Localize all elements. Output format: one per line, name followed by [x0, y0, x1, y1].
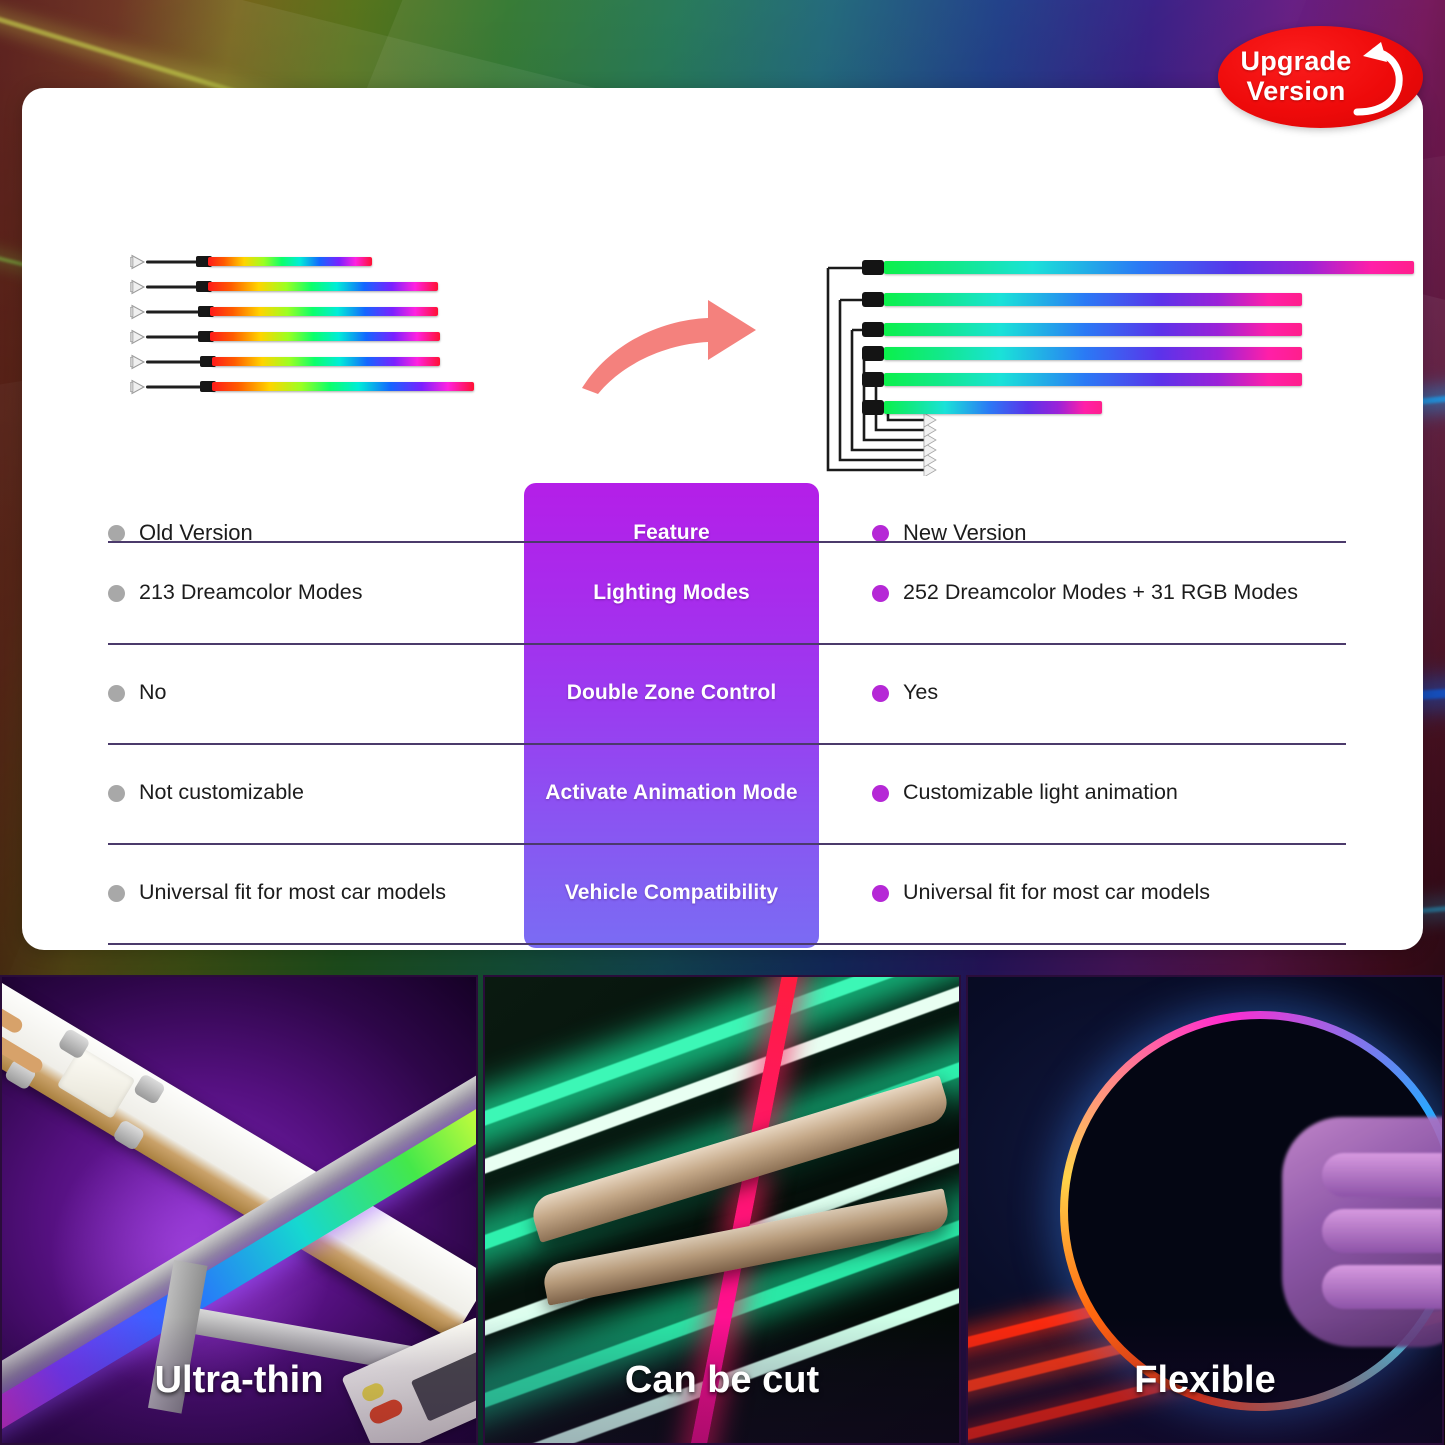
bullet-dot-new-icon: [872, 585, 889, 602]
old-version-strips: [130, 256, 510, 406]
feature-photo-row: Ultra-thin Can be cut Flexible: [0, 975, 1445, 1445]
row-new-value: Universal fit for most car models: [903, 880, 1210, 906]
row-cell-feature: Activate Animation Mode: [524, 743, 819, 843]
table-row: 213 Dreamcolor Modes Lighting Modes 252 …: [84, 543, 1364, 643]
old-strip-row: [130, 256, 372, 267]
strip-wire: [146, 385, 204, 388]
row-cell-new: 252 Dreamcolor Modes + 31 RGB Modes: [872, 543, 1342, 643]
finger: [1322, 1265, 1442, 1309]
comparison-table: Old Version Feature New Version 213 Drea…: [84, 483, 1364, 953]
row-old-value: Not customizable: [139, 780, 304, 806]
old-strip-row: [130, 381, 478, 392]
connector-plug-icon: [130, 379, 147, 394]
old-strip-row: [130, 306, 442, 317]
bullet-dot-old-icon: [108, 525, 125, 542]
led-strip: [884, 347, 1302, 360]
finger: [1322, 1153, 1442, 1197]
connector-plug-icon: [130, 304, 147, 319]
strip-wire: [146, 360, 204, 363]
photo-ultra-thin: Ultra-thin: [0, 975, 478, 1445]
connector-plug-icon: [130, 354, 147, 369]
led-strip: [884, 401, 1102, 414]
connector-plug-icon: [130, 329, 147, 344]
photo-can-be-cut: Can be cut: [483, 975, 961, 1445]
strip-endcap: [862, 260, 884, 275]
row-cell-feature: Vehicle Compatibility: [524, 843, 819, 943]
led-strip: [212, 382, 474, 391]
strip-wire: [146, 335, 202, 338]
strip-endcap: [862, 400, 884, 415]
row-cell-feature: Lighting Modes: [524, 543, 819, 643]
bullet-dot-new-icon: [872, 885, 889, 902]
curved-up-arrow-icon: [1341, 42, 1411, 116]
strip-endcap: [862, 346, 884, 361]
bullet-dot-new-icon: [872, 785, 889, 802]
strip-wire: [146, 260, 200, 263]
wiring-harness: [814, 246, 1414, 476]
table-row: Not customizable Activate Animation Mode…: [84, 743, 1364, 843]
new-strip-row: [862, 372, 1302, 387]
bullet-dot-old-icon: [108, 585, 125, 602]
old-strip-row: [130, 331, 444, 342]
row-cell-new: Customizable light animation: [872, 743, 1342, 843]
row-divider: [108, 943, 1346, 945]
smd-led-chip: [57, 1047, 136, 1119]
strip-endcap: [862, 372, 884, 387]
row-cell-old: Not customizable: [108, 743, 518, 843]
led-strip: [884, 373, 1302, 386]
finger: [1322, 1209, 1442, 1253]
new-strip-row: [862, 322, 1302, 337]
row-old-value: No: [139, 680, 166, 706]
row-new-value: Customizable light animation: [903, 780, 1178, 806]
old-strip-row: [130, 356, 444, 367]
new-version-strips: [814, 246, 1414, 476]
led-strip: [210, 332, 440, 341]
led-strip: [884, 293, 1302, 306]
bullet-dot-new-icon: [872, 525, 889, 542]
bullet-dot-old-icon: [108, 785, 125, 802]
connector-plug-icon: [130, 254, 147, 269]
upgrade-version-badge: Upgrade Version: [1218, 26, 1423, 128]
row-new-value: 252 Dreamcolor Modes + 31 RGB Modes: [903, 580, 1298, 606]
new-strip-row: [862, 400, 1102, 415]
led-strip: [884, 323, 1302, 336]
led-strip: [208, 282, 438, 291]
led-strip: [208, 257, 372, 266]
solder-pad: [133, 1073, 167, 1105]
upgrade-arrow-icon: [576, 286, 766, 398]
strip-wire: [146, 310, 202, 313]
led-strip: [210, 307, 438, 316]
photo1-caption: Ultra-thin: [2, 1317, 476, 1443]
old-strip-row: [130, 281, 442, 292]
copper-pad: [0, 991, 25, 1036]
photo-flexible: Flexible: [966, 975, 1444, 1445]
row-cell-new: Universal fit for most car models: [872, 843, 1342, 943]
connector-plug-icon: [130, 279, 147, 294]
row-old-value: Universal fit for most car models: [139, 880, 446, 906]
bullet-dot-old-icon: [108, 885, 125, 902]
strip-wire: [146, 285, 200, 288]
row-new-value: Yes: [903, 680, 938, 706]
bullet-dot-new-icon: [872, 685, 889, 702]
row-old-value: 213 Dreamcolor Modes: [139, 580, 362, 606]
info-card: Old Version Feature New Version 213 Drea…: [22, 88, 1423, 950]
strip-endcap: [862, 292, 884, 307]
led-strip: [884, 261, 1414, 274]
led-strip: [212, 357, 440, 366]
comparison-diagram: [22, 88, 1423, 476]
new-strip-row: [862, 292, 1302, 307]
row-cell-feature: Double Zone Control: [524, 643, 819, 743]
row-cell-old: Universal fit for most car models: [108, 843, 518, 943]
table-row: Universal fit for most car models Vehicl…: [84, 843, 1364, 943]
new-strip-row: [862, 346, 1302, 361]
row-cell-new: Yes: [872, 643, 1342, 743]
bullet-dot-old-icon: [108, 685, 125, 702]
table-row: No Double Zone Control Yes: [84, 643, 1364, 743]
row-cell-old: 213 Dreamcolor Modes: [108, 543, 518, 643]
strip-endcap: [862, 322, 884, 337]
photo3-caption: Flexible: [968, 1317, 1442, 1443]
new-strip-row: [862, 260, 1414, 275]
row-cell-old: No: [108, 643, 518, 743]
photo2-caption: Can be cut: [485, 1317, 959, 1443]
